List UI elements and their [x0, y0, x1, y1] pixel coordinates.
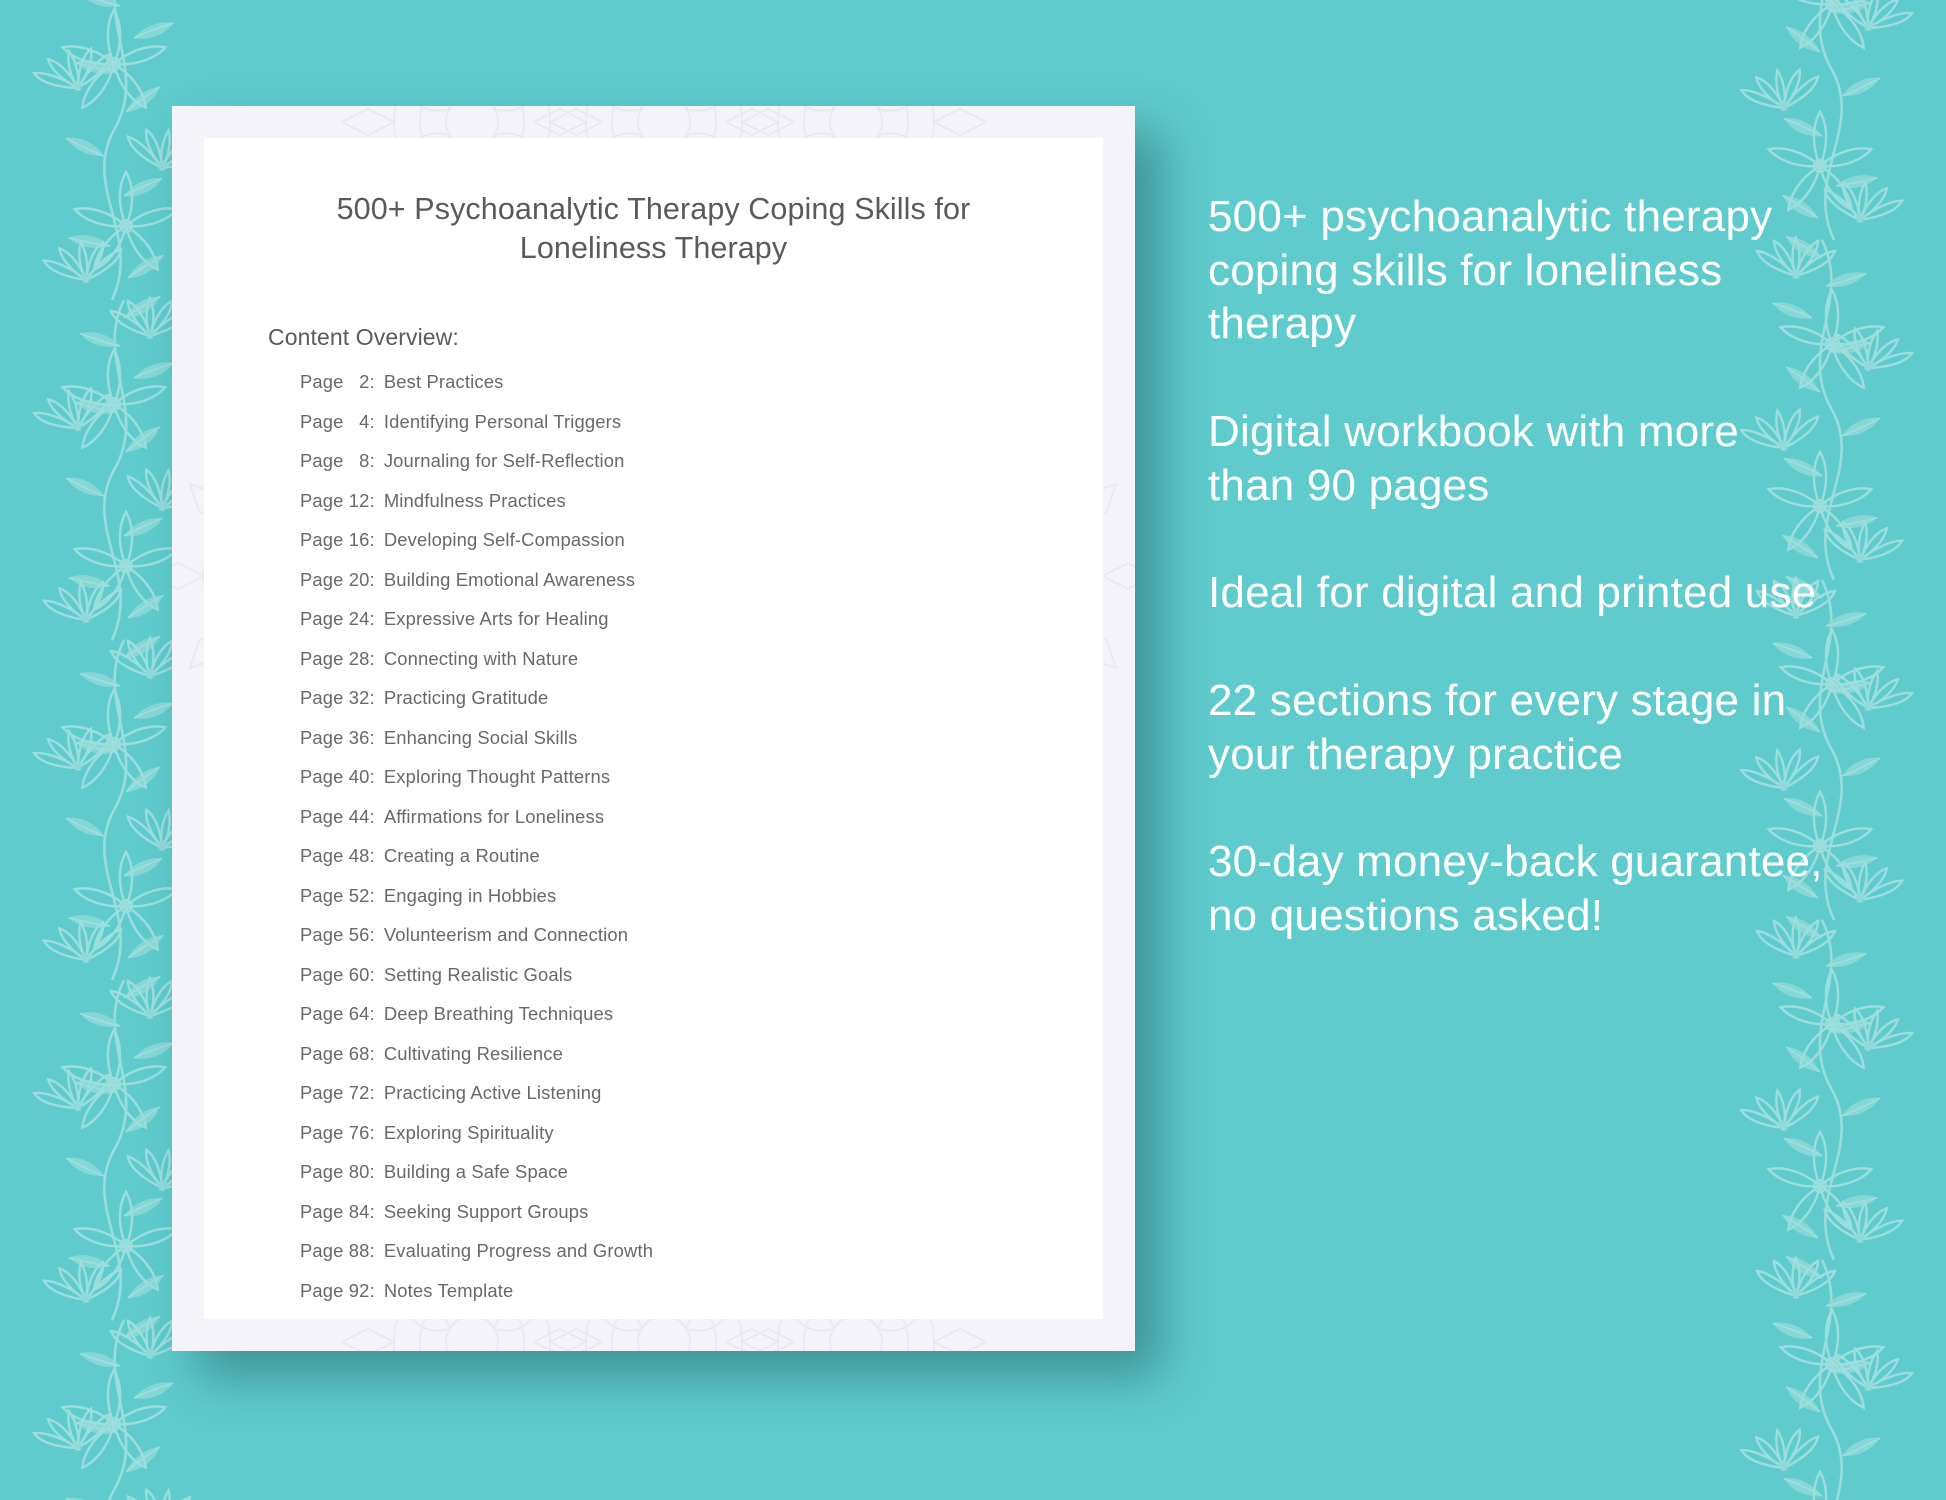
toc-entry-title: Deep Breathing Techniques: [384, 1005, 613, 1023]
toc-entry: Page 32:Practicing Gratitude: [300, 689, 1045, 729]
toc-entry: Page 8:Journaling for Self-Reflection: [300, 452, 1045, 492]
toc-entry: Page 2:Best Practices: [300, 373, 1045, 413]
toc-colon: :: [370, 373, 375, 391]
toc-colon: :: [370, 768, 375, 786]
toc-page-word: Page: [300, 452, 344, 470]
toc-entry: Page 12:Mindfulness Practices: [300, 492, 1045, 532]
marketing-paragraph: Ideal for digital and printed use: [1208, 566, 1828, 620]
toc-entry-title: Practicing Gratitude: [384, 689, 549, 707]
toc-page-number: 8: [344, 452, 370, 470]
toc-entry-title: Best Practices: [384, 373, 504, 391]
toc-page-number: 12: [344, 492, 370, 510]
toc-page-number: 16: [344, 531, 370, 549]
workbook-preview-card: 500+ Psychoanalytic Therapy Coping Skill…: [172, 106, 1135, 1351]
toc-entry: Page 84:Seeking Support Groups: [300, 1203, 1045, 1243]
toc-colon: :: [370, 452, 375, 470]
toc-page-word: Page: [300, 373, 344, 391]
toc-entry-title: Seeking Support Groups: [384, 1203, 589, 1221]
toc-page-word: Page: [300, 610, 344, 628]
toc-colon: :: [370, 847, 375, 865]
toc-entry-title: Connecting with Nature: [384, 650, 578, 668]
toc-colon: :: [370, 1005, 375, 1023]
toc-page-number: 40: [344, 768, 370, 786]
toc-entry: Page 56:Volunteerism and Connection: [300, 926, 1045, 966]
toc-colon: :: [370, 887, 375, 905]
toc-entry-title: Expressive Arts for Healing: [384, 610, 609, 628]
toc-entry-title: Volunteerism and Connection: [384, 926, 628, 944]
toc-page-word: Page: [300, 492, 344, 510]
toc-colon: :: [370, 531, 375, 549]
toc-entry-title: Building Emotional Awareness: [384, 571, 635, 589]
toc-entry: Page 64:Deep Breathing Techniques: [300, 1005, 1045, 1045]
toc-page-word: Page: [300, 1282, 344, 1300]
toc-entry: Page 92:Notes Template: [300, 1282, 1045, 1319]
toc-entry-title: Practicing Active Listening: [384, 1084, 602, 1102]
toc-entry: Page 36:Enhancing Social Skills: [300, 729, 1045, 769]
toc-entry: Page 76:Exploring Spirituality: [300, 1124, 1045, 1164]
toc-entry-title: Evaluating Progress and Growth: [384, 1242, 653, 1260]
toc-colon: :: [370, 1045, 375, 1063]
toc-colon: :: [370, 610, 375, 628]
toc-entry: Page 68:Cultivating Resilience: [300, 1045, 1045, 1085]
toc-page-word: Page: [300, 966, 344, 984]
toc-colon: :: [370, 1084, 375, 1102]
toc-colon: :: [370, 1242, 375, 1260]
content-overview-label: Content Overview:: [268, 324, 1045, 351]
toc-page-number: 44: [344, 808, 370, 826]
toc-entry-title: Affirmations for Loneliness: [384, 808, 604, 826]
toc-colon: :: [370, 729, 375, 747]
toc-colon: :: [370, 808, 375, 826]
toc-entry: Page 40:Exploring Thought Patterns: [300, 768, 1045, 808]
toc-entry: Page 28:Connecting with Nature: [300, 650, 1045, 690]
toc-entry-title: Cultivating Resilience: [384, 1045, 563, 1063]
toc-entry-title: Engaging in Hobbies: [384, 887, 557, 905]
toc-entry: Page 72:Practicing Active Listening: [300, 1084, 1045, 1124]
toc-entry-title: Identifying Personal Triggers: [384, 413, 621, 431]
toc-page-number: 4: [344, 413, 370, 431]
toc-page-number: 48: [344, 847, 370, 865]
toc-entry: Page 24:Expressive Arts for Healing: [300, 610, 1045, 650]
toc-entry: Page 48:Creating a Routine: [300, 847, 1045, 887]
toc-entry: Page 16:Developing Self-Compassion: [300, 531, 1045, 571]
table-of-contents: Page 2:Best PracticesPage 4:Identifying …: [262, 373, 1045, 1319]
toc-page-number: 72: [344, 1084, 370, 1102]
marketing-paragraph: 22 sections for every stage in your ther…: [1208, 674, 1828, 781]
toc-entry: Page 44:Affirmations for Loneliness: [300, 808, 1045, 848]
toc-page-number: 56: [344, 926, 370, 944]
toc-entry-title: Journaling for Self-Reflection: [384, 452, 625, 470]
toc-colon: :: [370, 1282, 375, 1300]
toc-colon: :: [370, 492, 375, 510]
toc-entry-title: Exploring Thought Patterns: [384, 768, 610, 786]
toc-page-word: Page: [300, 926, 344, 944]
toc-page-number: 88: [344, 1242, 370, 1260]
toc-page-number: 2: [344, 373, 370, 391]
toc-entry: Page 4:Identifying Personal Triggers: [300, 413, 1045, 453]
toc-colon: :: [370, 413, 375, 431]
toc-page-word: Page: [300, 650, 344, 668]
toc-colon: :: [370, 1203, 375, 1221]
marketing-paragraph: 500+ psychoanalytic therapy coping skill…: [1208, 190, 1828, 351]
toc-page-word: Page: [300, 571, 344, 589]
toc-entry-title: Building a Safe Space: [384, 1163, 568, 1181]
toc-page-word: Page: [300, 808, 344, 826]
toc-page-number: 84: [344, 1203, 370, 1221]
toc-entry-title: Notes Template: [384, 1282, 514, 1300]
toc-page-number: 52: [344, 887, 370, 905]
toc-colon: :: [370, 1163, 375, 1181]
toc-page-number: 20: [344, 571, 370, 589]
toc-colon: :: [370, 966, 375, 984]
toc-colon: :: [370, 1124, 375, 1142]
toc-page-word: Page: [300, 1203, 344, 1221]
toc-entry: Page 20:Building Emotional Awareness: [300, 571, 1045, 611]
toc-page-word: Page: [300, 1084, 344, 1102]
toc-page-word: Page: [300, 1242, 344, 1260]
toc-entry: Page 80:Building a Safe Space: [300, 1163, 1045, 1203]
toc-page-word: Page: [300, 689, 344, 707]
toc-entry: Page 88:Evaluating Progress and Growth: [300, 1242, 1045, 1282]
toc-entry-title: Creating a Routine: [384, 847, 540, 865]
page-title: 500+ Psychoanalytic Therapy Coping Skill…: [262, 190, 1045, 268]
toc-page-number: 76: [344, 1124, 370, 1142]
toc-entry-title: Developing Self-Compassion: [384, 531, 625, 549]
toc-colon: :: [370, 650, 375, 668]
toc-page-number: 36: [344, 729, 370, 747]
toc-page-number: 80: [344, 1163, 370, 1181]
toc-page-number: 64: [344, 1005, 370, 1023]
toc-page-word: Page: [300, 729, 344, 747]
toc-entry: Page 60:Setting Realistic Goals: [300, 966, 1045, 1006]
toc-entry-title: Setting Realistic Goals: [384, 966, 572, 984]
toc-page-word: Page: [300, 531, 344, 549]
toc-entry-title: Enhancing Social Skills: [384, 729, 578, 747]
toc-page-word: Page: [300, 1163, 344, 1181]
toc-colon: :: [370, 689, 375, 707]
marketing-paragraph: 30-day money-back guarantee, no question…: [1208, 835, 1828, 942]
toc-page-word: Page: [300, 847, 344, 865]
marketing-paragraph: Digital workbook with more than 90 pages: [1208, 405, 1828, 512]
toc-page-number: 92: [344, 1282, 370, 1300]
marketing-copy-column: 500+ psychoanalytic therapy coping skill…: [1208, 190, 1828, 943]
toc-page-word: Page: [300, 768, 344, 786]
toc-entry-title: Mindfulness Practices: [384, 492, 566, 510]
toc-entry-title: Exploring Spirituality: [384, 1124, 554, 1142]
toc-page-number: 32: [344, 689, 370, 707]
toc-page-number: 60: [344, 966, 370, 984]
workbook-page-sheet: 500+ Psychoanalytic Therapy Coping Skill…: [204, 138, 1103, 1319]
toc-page-number: 24: [344, 610, 370, 628]
toc-entry: Page 52:Engaging in Hobbies: [300, 887, 1045, 927]
toc-page-word: Page: [300, 413, 344, 431]
toc-page-word: Page: [300, 887, 344, 905]
toc-page-word: Page: [300, 1124, 344, 1142]
toc-page-word: Page: [300, 1045, 344, 1063]
toc-page-number: 68: [344, 1045, 370, 1063]
toc-page-number: 28: [344, 650, 370, 668]
toc-page-word: Page: [300, 1005, 344, 1023]
toc-colon: :: [370, 926, 375, 944]
toc-colon: :: [370, 571, 375, 589]
